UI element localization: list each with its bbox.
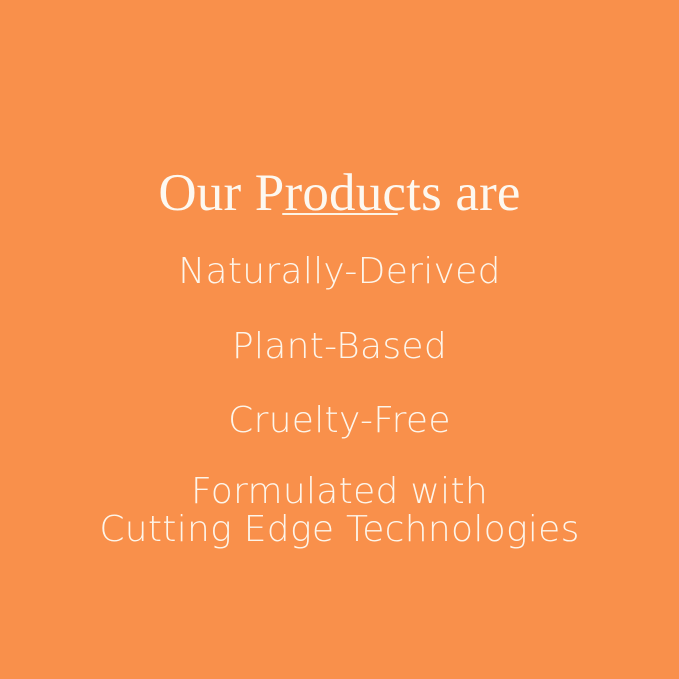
claim-cutting-edge: Formulated with Cutting Edge Technologie… <box>0 473 679 549</box>
claim-cutting-edge-line-1: Formulated with <box>0 473 679 511</box>
claim-cruelty-free: Cruelty-Free <box>0 400 679 442</box>
claim-naturally-derived: Naturally-Derived <box>0 251 679 293</box>
divider <box>0 206 679 222</box>
claim-plant-based: Plant-Based <box>0 326 679 368</box>
product-claims-poster: Our Products are Naturally-Derived Plant… <box>0 0 679 679</box>
claim-cutting-edge-line-2: Cutting Edge Technologies <box>0 511 679 549</box>
divider-rule <box>282 213 398 215</box>
claims-list: Naturally-Derived Plant-Based Cruelty-Fr… <box>0 246 679 549</box>
